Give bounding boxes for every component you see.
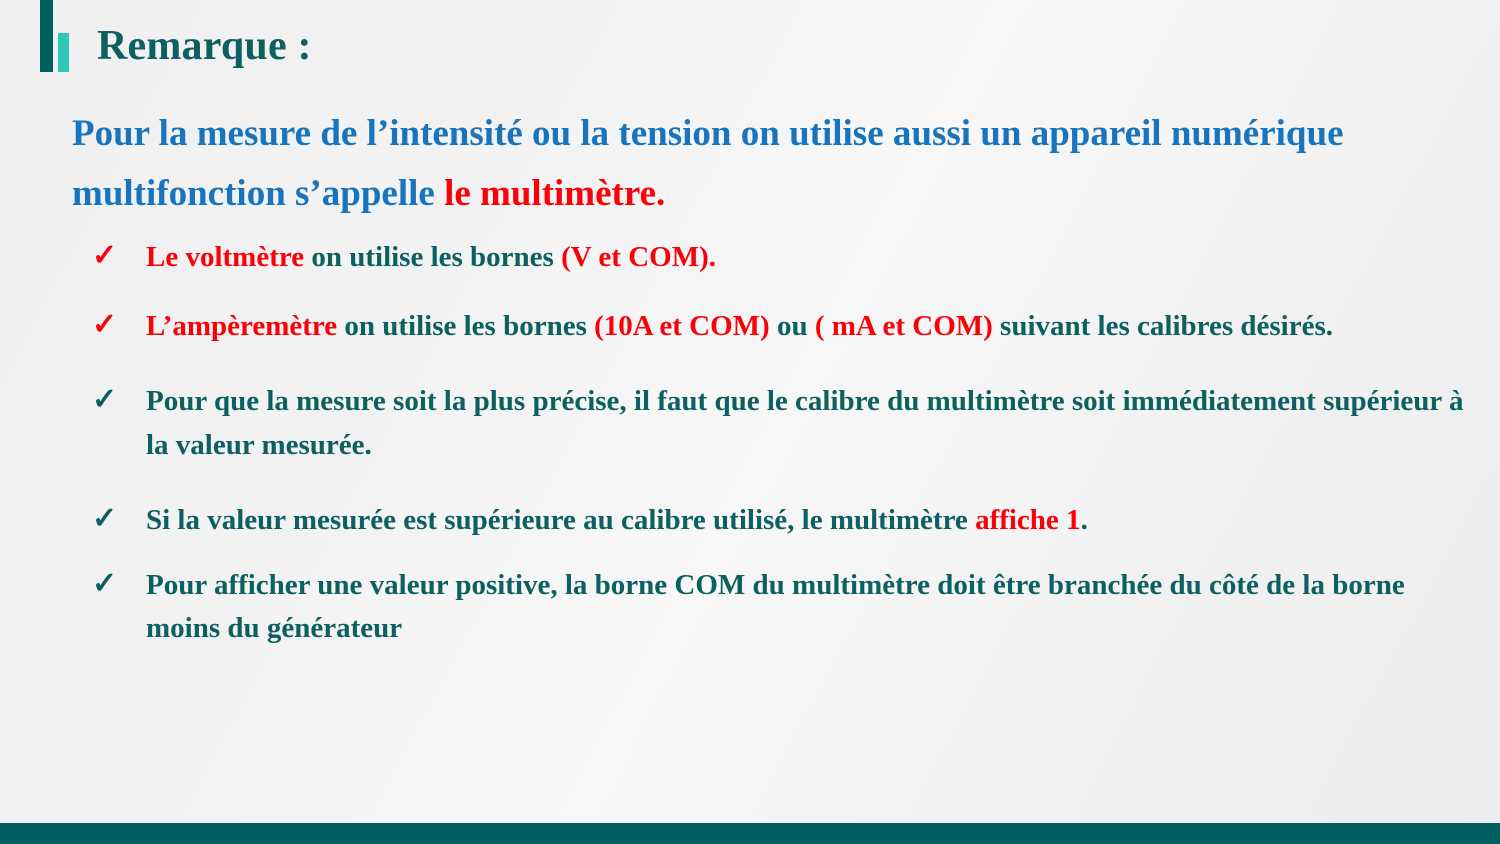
text-segment: (V et COM). bbox=[561, 241, 716, 273]
accent-bar-dark-icon bbox=[40, 0, 53, 72]
slide: Remarque : Pour la mesure de l’intensité… bbox=[0, 0, 1500, 844]
bullet-list: ✓ Le voltmètre on utilise les bornes (V … bbox=[84, 236, 1484, 650]
list-item: ✓ L’ampèremètre on utilise les bornes (1… bbox=[84, 305, 1484, 348]
list-item: ✓ Si la valeur mesurée est supérieure au… bbox=[84, 499, 1484, 542]
accent-bar-light-icon bbox=[58, 33, 69, 72]
text-segment: . bbox=[1081, 504, 1088, 536]
text-segment: (10A et COM) bbox=[594, 310, 777, 342]
list-item-text: Pour que la mesure soit la plus précise,… bbox=[146, 385, 1464, 460]
list-item-text: L’ampèremètre on utilise les bornes (10A… bbox=[146, 310, 1333, 342]
text-segment: on utilise les bornes bbox=[344, 310, 594, 342]
text-segment: affiche 1 bbox=[975, 504, 1081, 536]
check-icon: ✓ bbox=[92, 234, 117, 279]
list-item: ✓ Pour afficher une valeur positive, la … bbox=[84, 564, 1484, 650]
text-segment: ( mA et COM) bbox=[815, 310, 993, 342]
intro-paragraph: Pour la mesure de l’intensité ou la tens… bbox=[72, 104, 1402, 224]
list-item-text: Le voltmètre on utilise les bornes (V et… bbox=[146, 241, 716, 273]
intro-text-highlight: le multimètre. bbox=[444, 173, 665, 214]
text-segment: Pour que la mesure soit la plus précise,… bbox=[146, 385, 1464, 460]
check-icon: ✓ bbox=[92, 562, 117, 607]
text-segment: on utilise les bornes bbox=[311, 241, 561, 273]
text-segment: Si la valeur mesurée est supérieure au c… bbox=[146, 504, 975, 536]
footer-accent-bar bbox=[0, 823, 1500, 844]
text-segment: Le voltmètre bbox=[146, 241, 311, 273]
intro-text-blue: Pour la mesure de l’intensité ou la tens… bbox=[72, 113, 1344, 214]
page-title: Remarque : bbox=[97, 22, 312, 70]
list-item-text: Pour afficher une valeur positive, la bo… bbox=[146, 569, 1405, 644]
list-item-text: Si la valeur mesurée est supérieure au c… bbox=[146, 504, 1088, 536]
list-item: ✓ Pour que la mesure soit la plus précis… bbox=[84, 380, 1484, 466]
slide-title-row: Remarque : bbox=[0, 0, 1500, 96]
text-segment: ou bbox=[777, 310, 815, 342]
text-segment: suivant les calibres désirés. bbox=[993, 310, 1333, 342]
list-item: ✓ Le voltmètre on utilise les bornes (V … bbox=[84, 236, 1484, 279]
title-accent-bars bbox=[40, 0, 70, 74]
text-segment: L’ampèremètre bbox=[146, 310, 344, 342]
check-icon: ✓ bbox=[92, 497, 117, 542]
text-segment: Pour afficher une valeur positive, la bo… bbox=[146, 569, 1405, 644]
check-icon: ✓ bbox=[92, 378, 117, 423]
check-icon: ✓ bbox=[92, 303, 117, 348]
